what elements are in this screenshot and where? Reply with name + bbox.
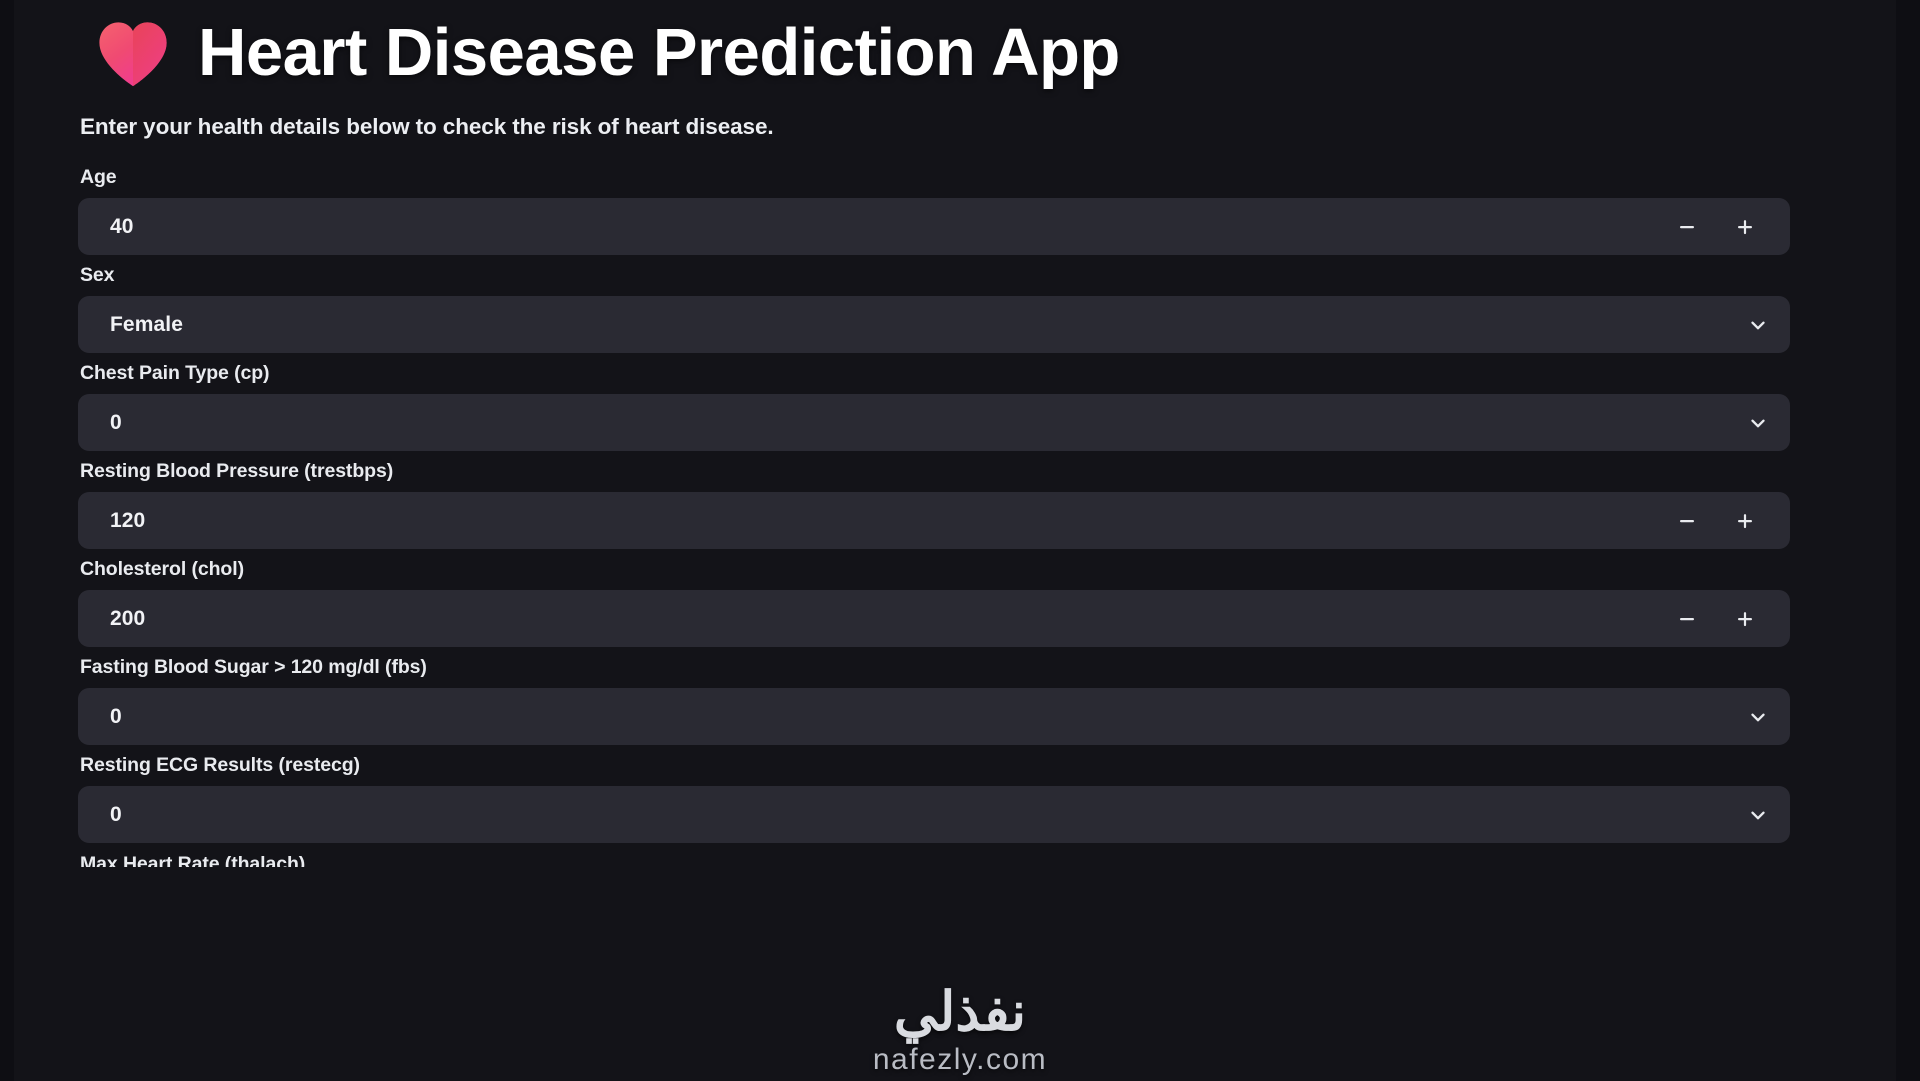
heart-icon bbox=[94, 18, 172, 88]
sex-value: Female bbox=[78, 313, 1726, 337]
plus-icon bbox=[1735, 511, 1755, 531]
fasting-blood-sugar-select-chevron[interactable] bbox=[1726, 688, 1790, 745]
field-label-max-heart-rate: Max Heart Rate (thalach) bbox=[78, 853, 1842, 867]
cholesterol-value[interactable]: 200 bbox=[78, 607, 1658, 631]
field-label-cholesterol: Cholesterol (chol) bbox=[78, 558, 1842, 581]
field-age: Age 40 bbox=[78, 166, 1842, 255]
page-content: Heart Disease Prediction App Enter your … bbox=[0, 0, 1920, 867]
resting-blood-pressure-number-input[interactable]: 120 bbox=[78, 492, 1790, 549]
chest-pain-type-value: 0 bbox=[78, 411, 1726, 435]
page-title: Heart Disease Prediction App bbox=[198, 18, 1120, 88]
watermark: نفذلي nafezly.com bbox=[873, 985, 1047, 1075]
chevron-down-icon bbox=[1747, 706, 1769, 728]
fasting-blood-sugar-select[interactable]: 0 bbox=[78, 688, 1790, 745]
field-label-age: Age bbox=[78, 166, 1842, 189]
field-label-resting-ecg-results: Resting ECG Results (restecg) bbox=[78, 754, 1842, 777]
sex-select-chevron[interactable] bbox=[1726, 296, 1790, 353]
cholesterol-decrement-button[interactable] bbox=[1658, 596, 1716, 642]
health-details-form: Age 40 bbox=[78, 166, 1842, 867]
age-value[interactable]: 40 bbox=[78, 215, 1658, 239]
resting-ecg-results-select-chevron[interactable] bbox=[1726, 786, 1790, 843]
field-label-fasting-blood-sugar: Fasting Blood Sugar > 120 mg/dl (fbs) bbox=[78, 656, 1842, 679]
chevron-down-icon bbox=[1747, 412, 1769, 434]
resting-ecg-results-value: 0 bbox=[78, 803, 1726, 827]
field-resting-blood-pressure: Resting Blood Pressure (trestbps) 120 bbox=[78, 460, 1842, 549]
resting-blood-pressure-decrement-button[interactable] bbox=[1658, 498, 1716, 544]
sex-select[interactable]: Female bbox=[78, 296, 1790, 353]
watermark-url-text: nafezly.com bbox=[873, 1045, 1047, 1075]
cholesterol-stepper bbox=[1658, 596, 1790, 642]
age-number-input[interactable]: 40 bbox=[78, 198, 1790, 255]
resting-blood-pressure-value[interactable]: 120 bbox=[78, 509, 1658, 533]
cholesterol-increment-button[interactable] bbox=[1716, 596, 1774, 642]
field-resting-ecg-results: Resting ECG Results (restecg) 0 bbox=[78, 754, 1842, 843]
resting-ecg-results-select[interactable]: 0 bbox=[78, 786, 1790, 843]
plus-icon bbox=[1735, 217, 1755, 237]
age-decrement-button[interactable] bbox=[1658, 204, 1716, 250]
page-subtitle: Enter your health details below to check… bbox=[80, 114, 1842, 140]
chevron-down-icon bbox=[1747, 314, 1769, 336]
minus-icon bbox=[1677, 609, 1697, 629]
field-chest-pain-type: Chest Pain Type (cp) 0 bbox=[78, 362, 1842, 451]
resting-blood-pressure-stepper bbox=[1658, 498, 1790, 544]
field-sex: Sex Female bbox=[78, 264, 1842, 353]
field-max-heart-rate: Max Heart Rate (thalach) bbox=[78, 853, 1842, 867]
field-label-resting-blood-pressure: Resting Blood Pressure (trestbps) bbox=[78, 460, 1842, 483]
watermark-arabic-text: نفذلي bbox=[873, 985, 1047, 1039]
resting-blood-pressure-increment-button[interactable] bbox=[1716, 498, 1774, 544]
minus-icon bbox=[1677, 217, 1697, 237]
minus-icon bbox=[1677, 511, 1697, 531]
fasting-blood-sugar-value: 0 bbox=[78, 705, 1726, 729]
heart-disease-prediction-app: Heart Disease Prediction App Enter your … bbox=[0, 0, 1920, 1081]
field-fasting-blood-sugar: Fasting Blood Sugar > 120 mg/dl (fbs) 0 bbox=[78, 656, 1842, 745]
field-label-sex: Sex bbox=[78, 264, 1842, 287]
plus-icon bbox=[1735, 609, 1755, 629]
chest-pain-type-select[interactable]: 0 bbox=[78, 394, 1790, 451]
age-increment-button[interactable] bbox=[1716, 204, 1774, 250]
cholesterol-number-input[interactable]: 200 bbox=[78, 590, 1790, 647]
chest-pain-type-select-chevron[interactable] bbox=[1726, 394, 1790, 451]
field-cholesterol: Cholesterol (chol) 200 bbox=[78, 558, 1842, 647]
field-label-chest-pain-type: Chest Pain Type (cp) bbox=[78, 362, 1842, 385]
age-stepper bbox=[1658, 204, 1790, 250]
app-header: Heart Disease Prediction App bbox=[94, 0, 1842, 88]
chevron-down-icon bbox=[1747, 804, 1769, 826]
